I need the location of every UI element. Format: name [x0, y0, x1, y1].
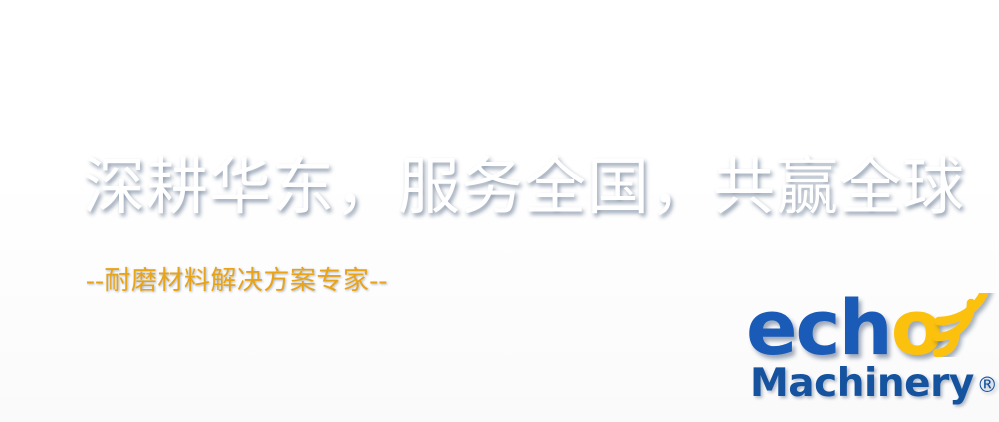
- brand-logo[interactable]: echo Machinery®: [744, 296, 999, 422]
- headline-text: 深耕华东，服务全国，共赢全球: [83, 152, 965, 224]
- registered-trademark-icon: ®: [977, 373, 998, 397]
- logo-brand-ech: ech: [746, 283, 891, 372]
- logo-tagline: Machinery®: [750, 362, 997, 407]
- logo-wordmark: echo: [744, 296, 979, 370]
- logo-tagline-text: Machinery: [750, 361, 974, 406]
- subtitle-text: --耐磨材料解决方案专家--: [86, 265, 388, 297]
- signal-waves-icon: [927, 293, 999, 357]
- promo-banner: 深耕华东，服务全国，共赢全球 --耐磨材料解决方案专家-- echo Machi…: [0, 0, 999, 422]
- logo-brand-text: echo: [746, 290, 941, 366]
